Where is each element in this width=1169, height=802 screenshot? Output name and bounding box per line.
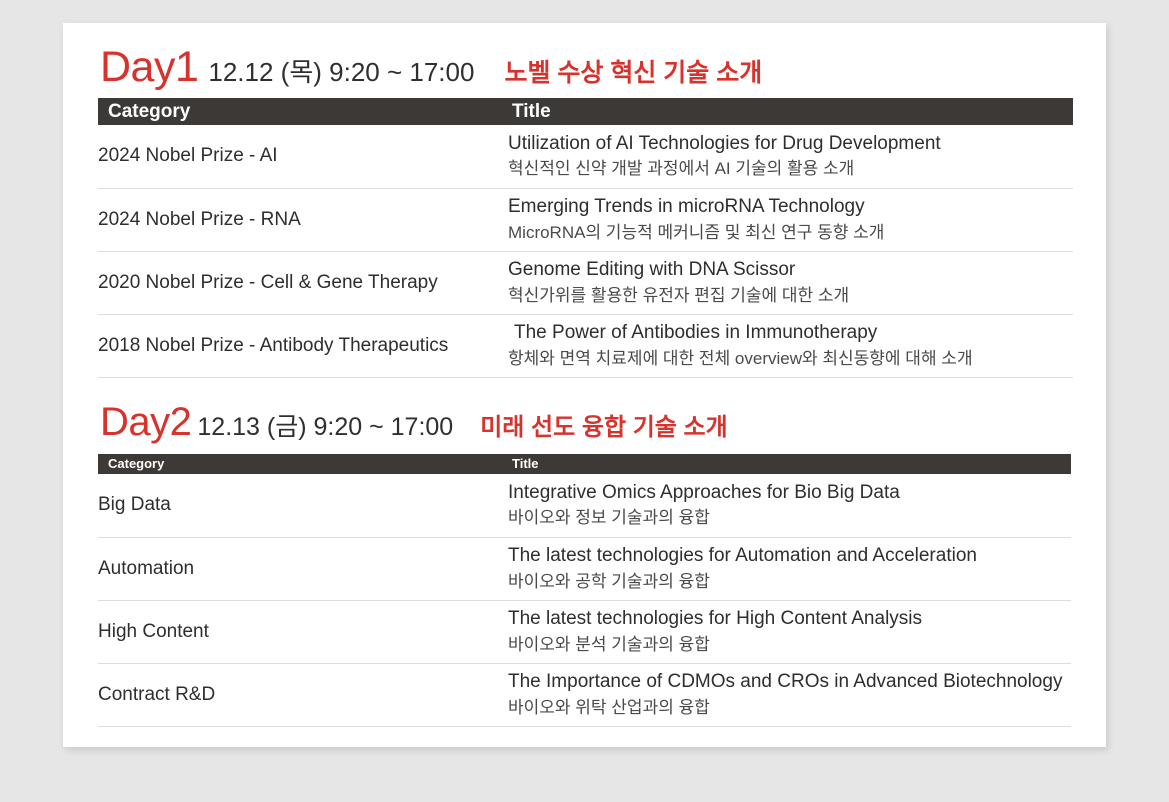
table-row: High Content The latest technologies for… (98, 600, 1071, 663)
table-row: 2024 Nobel Prize - RNA Emerging Trends i… (98, 188, 1073, 251)
day2-row3-title-en: The Importance of CDMOs and CROs in Adva… (508, 670, 1071, 694)
day1-column-header-category: Category (98, 98, 508, 125)
day2-row2-title-en: The latest technologies for High Content… (508, 607, 1071, 631)
table-row: 2024 Nobel Prize - AI Utilization of AI … (98, 125, 1073, 188)
day2-row3-title-ko: 바이오와 위탁 산업과의 융합 (508, 697, 1071, 719)
day1-row0-title-ko: 혁신적인 신약 개발 과정에서 AI 기술의 활용 소개 (508, 158, 1073, 180)
day1-row1-title: Emerging Trends in microRNA Technology M… (508, 188, 1073, 251)
day1-row2-title-en: Genome Editing with DNA Scissor (508, 258, 1073, 282)
day2-header-row: Category Title (98, 454, 1071, 474)
day1-schedule-table: Category Title 2024 Nobel Prize - AI Uti… (98, 98, 1073, 378)
day2-row1-title: The latest technologies for Automation a… (508, 537, 1071, 600)
day2-column-header-category: Category (98, 454, 508, 474)
day1-row0-title-en: Utilization of AI Technologies for Drug … (508, 132, 1073, 156)
day2-table-body: Big Data Integrative Omics Approaches fo… (98, 474, 1071, 726)
table-row: 2020 Nobel Prize - Cell & Gene Therapy G… (98, 251, 1073, 314)
day1-table-body: 2024 Nobel Prize - AI Utilization of AI … (98, 125, 1073, 377)
day1-row1-title-en: Emerging Trends in microRNA Technology (508, 195, 1073, 219)
day2-row0-title: Integrative Omics Approaches for Bio Big… (508, 474, 1071, 537)
table-row: Big Data Integrative Omics Approaches fo… (98, 474, 1071, 537)
day1-row3-category: 2018 Nobel Prize - Antibody Therapeutics (98, 314, 508, 377)
day1-row1-title-ko: MicroRNA의 기능적 메커니즘 및 최신 연구 동향 소개 (508, 222, 1073, 244)
day2-row1-category: Automation (98, 537, 508, 600)
day1-column-header-title: Title (508, 98, 1073, 125)
day1-row2-category: 2020 Nobel Prize - Cell & Gene Therapy (98, 251, 508, 314)
day2-row0-category: Big Data (98, 474, 508, 537)
day1-row3-title-ko: 항체와 면역 치료제에 대한 전체 overview와 최신동향에 대해 소개 (508, 348, 1073, 370)
day2-row2-title-ko: 바이오와 분석 기술과의 융합 (508, 634, 1071, 656)
day1-datetime: 12.12 (목) 9:20 ~ 17:00 (208, 52, 474, 89)
day2-row2-category: High Content (98, 600, 508, 663)
day2-row1-title-en: The latest technologies for Automation a… (508, 544, 1071, 568)
schedule-card: Day1 12.12 (목) 9:20 ~ 17:00 노벨 수상 혁신 기술 … (63, 23, 1106, 747)
day1-table-head: Category Title (98, 98, 1073, 125)
day1-row0-title: Utilization of AI Technologies for Drug … (508, 125, 1073, 188)
day1-row0-category: 2024 Nobel Prize - AI (98, 125, 508, 188)
day1-topic: 노벨 수상 혁신 기술 소개 (504, 53, 762, 89)
day2-heading: Day2 12.13 (금) 9:20 ~ 17:00 미래 선도 융합 기술 … (100, 400, 728, 445)
day1-row3-title: The Power of Antibodies in Immunotherapy… (508, 314, 1073, 377)
day1-row1-category: 2024 Nobel Prize - RNA (98, 188, 508, 251)
day2-row1-title-ko: 바이오와 공학 기술과의 융합 (508, 571, 1071, 593)
day2-datetime: 12.13 (금) 9:20 ~ 17:00 (197, 407, 453, 443)
day2-row3-title: The Importance of CDMOs and CROs in Adva… (508, 663, 1071, 726)
table-row: Automation The latest technologies for A… (98, 537, 1071, 600)
day1-row3-title-en: The Power of Antibodies in Immunotherapy (508, 321, 1073, 345)
table-row: Contract R&D The Importance of CDMOs and… (98, 663, 1071, 726)
day2-column-header-title: Title (508, 454, 1071, 474)
day2-topic: 미래 선도 융합 기술 소개 (480, 407, 727, 442)
day2-row0-title-en: Integrative Omics Approaches for Bio Big… (508, 481, 1071, 505)
day2-label: Day2 (100, 400, 191, 445)
day1-heading: Day1 12.12 (목) 9:20 ~ 17:00 노벨 수상 혁신 기술 … (100, 43, 762, 92)
day2-row3-category: Contract R&D (98, 663, 508, 726)
day1-row2-title-ko: 혁신가위를 활용한 유전자 편집 기술에 대한 소개 (508, 285, 1073, 307)
table-row: 2018 Nobel Prize - Antibody Therapeutics… (98, 314, 1073, 377)
day1-row2-title: Genome Editing with DNA Scissor 혁신가위를 활용… (508, 251, 1073, 314)
day2-row0-title-ko: 바이오와 정보 기술과의 융합 (508, 507, 1071, 529)
day2-table-head: Category Title (98, 454, 1071, 474)
day1-header-row: Category Title (98, 98, 1073, 125)
day2-schedule-table: Category Title Big Data Integrative Omic… (98, 454, 1071, 727)
day2-row2-title: The latest technologies for High Content… (508, 600, 1071, 663)
day1-label: Day1 (100, 43, 198, 92)
schedule-content: Day1 12.12 (목) 9:20 ~ 17:00 노벨 수상 혁신 기술 … (63, 23, 1106, 747)
